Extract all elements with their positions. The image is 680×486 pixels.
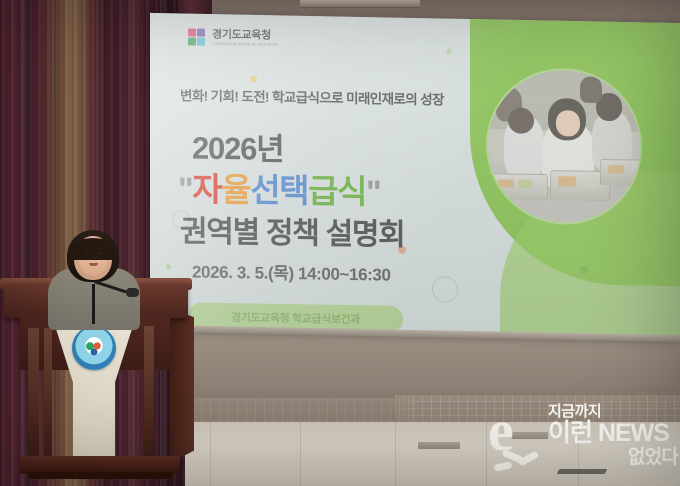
screenshot-root: 경기도교육청 GYEONGGIDO OFFICE OF EDUCATION 변화…: [0, 0, 680, 486]
watermark-line-1: 지금까지: [548, 403, 678, 420]
watermark-text: 지금까지 이런 NEWS 없었다: [548, 403, 678, 468]
speaker-eye-left: [84, 252, 89, 254]
decor-dot-green-2: [446, 48, 452, 54]
org-name-ko: 경기도교육청: [212, 30, 278, 42]
podium-leg-left-2: [44, 328, 52, 458]
microphone-icon: [126, 288, 139, 297]
slide-org-logo: 경기도교육청 GYEONGGIDO OFFICE OF EDUCATION: [188, 28, 278, 48]
floor-vent-1: [418, 442, 460, 449]
microphone-pole: [92, 284, 95, 324]
org-name-en: GYEONGGIDO OFFICE OF EDUCATION: [212, 43, 278, 47]
podium-leg-right: [144, 326, 154, 460]
projection-screen: 경기도교육청 GYEONGGIDO OFFICE OF EDUCATION 변화…: [150, 13, 680, 339]
speaker-eye-right: [97, 252, 102, 254]
decor-dot-orange-1: [250, 75, 257, 82]
title-close-quote: ": [366, 173, 380, 210]
screen-mount-bar: [300, 0, 420, 8]
podium-leg-left: [28, 328, 39, 460]
speaker-hair-front: [70, 238, 116, 260]
speaker-person: [34, 232, 154, 322]
podium-base-foot: [28, 472, 173, 479]
slide-footer-pill-label: 경기도교육청 학교급식보건과: [231, 309, 360, 327]
podium-side-panel: [170, 308, 194, 463]
title-seg-4: 급식: [308, 172, 366, 210]
slide-title-line3: 권역별 정책 설명회: [180, 206, 404, 254]
watermark-line-2: 이런 NEWS: [548, 420, 678, 447]
title-seg-2: 율: [221, 171, 250, 208]
watermark-line-3: 없었다: [548, 447, 678, 468]
watermark-underline: [557, 469, 608, 474]
podium-emblem-icon: [72, 326, 116, 370]
slide-date-time: 2026. 3. 5.(목) 14:00~16:30: [192, 257, 391, 285]
news-watermark: e 지금까지 이런 NEWS 없었다: [488, 403, 678, 481]
slide-content: 경기도교육청 GYEONGGIDO OFFICE OF EDUCATION 변화…: [150, 14, 680, 338]
decor-dot-green-1: [580, 266, 588, 274]
gyeonggi-education-mark-icon: [188, 28, 207, 47]
decor-ring-1: [432, 276, 458, 302]
title-seg-3: 선택: [250, 171, 308, 209]
